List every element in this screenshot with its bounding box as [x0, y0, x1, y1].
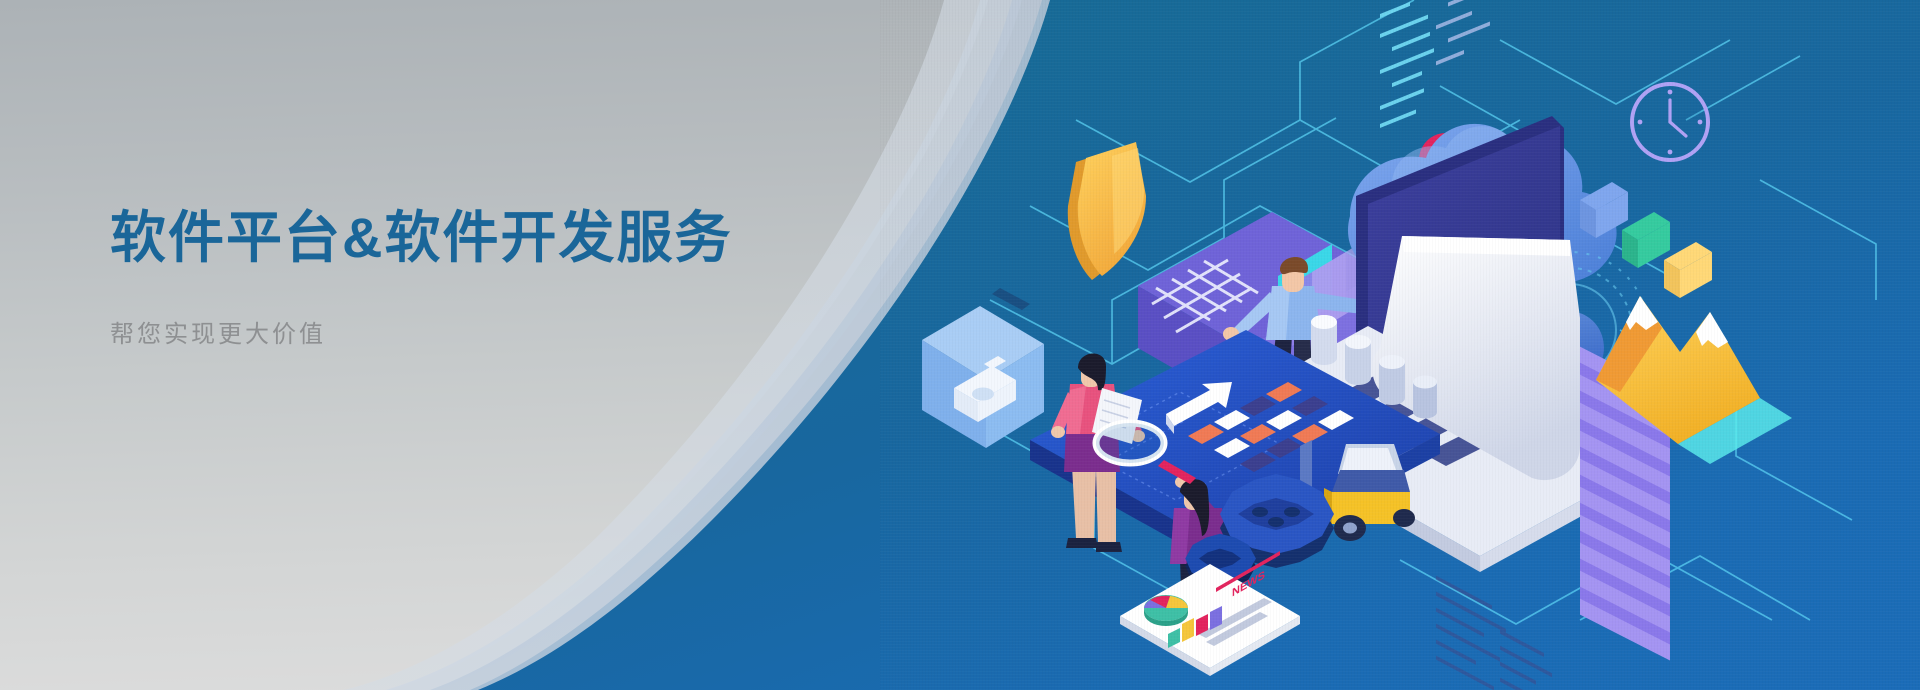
code-lines	[1380, 0, 1542, 128]
banner-subtitle: 帮您实现更大价值	[110, 314, 870, 349]
camera-card-icon	[922, 288, 1044, 448]
shield-icon	[1068, 142, 1146, 280]
isometric-illustration: NEWS	[880, 0, 1920, 690]
banner-copy: 软件平台&软件开发服务 帮您实现更大价值	[110, 206, 870, 349]
banner-title: 软件平台&软件开发服务	[110, 206, 870, 270]
hero-banner: 软件平台&软件开发服务 帮您实现更大价值	[0, 0, 1920, 690]
clock-icon	[1632, 84, 1708, 160]
news-document-icon: NEWS	[1120, 551, 1300, 676]
pie-chart-icon	[1144, 595, 1188, 626]
